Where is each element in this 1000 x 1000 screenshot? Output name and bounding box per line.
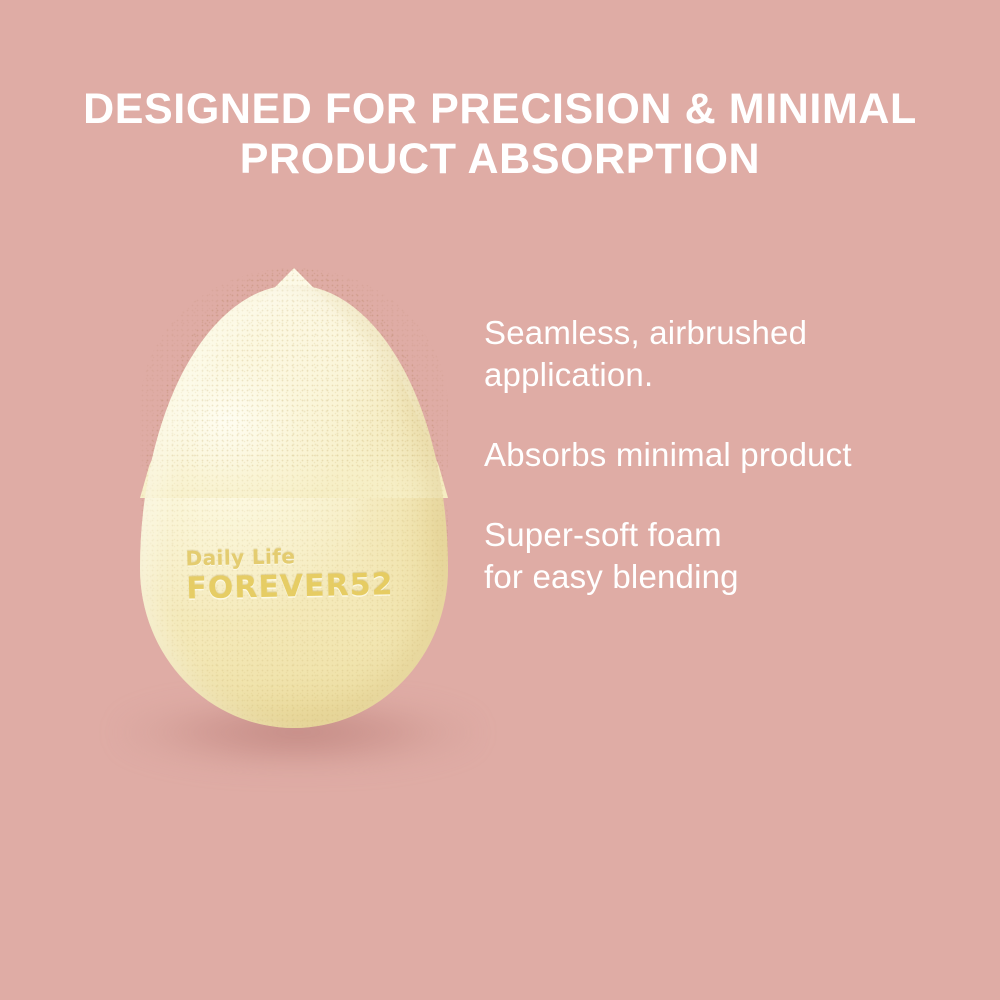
benefit-3-line-1: Super-soft foam	[484, 514, 984, 556]
product-feature-poster: DESIGNED FOR PRECISION & MINIMAL PRODUCT…	[0, 0, 1000, 1000]
brand-logo-emboss: Daily Life FOREVER52	[185, 541, 426, 606]
benefits-list: Seamless, airbrushed application. Absorb…	[484, 312, 984, 598]
headline-line-2: PRODUCT ABSORPTION	[0, 134, 1000, 184]
brand-name-top: Daily Life	[185, 541, 425, 570]
benefit-1-line-1: Seamless, airbrushed	[484, 312, 984, 354]
benefit-item-2: Absorbs minimal product	[484, 434, 984, 476]
page-title: DESIGNED FOR PRECISION & MINIMAL PRODUCT…	[0, 84, 1000, 184]
product-image-blender-sponge: Daily Life FOREVER52	[108, 268, 488, 768]
benefit-item-3: Super-soft foam for easy blending	[484, 514, 984, 598]
benefit-1-line-2: application.	[484, 354, 984, 396]
benefit-3-line-2: for easy blending	[484, 556, 984, 598]
brand-name-main: FOREVER52	[186, 566, 427, 606]
benefit-2-line-1: Absorbs minimal product	[484, 434, 984, 476]
headline-line-1: DESIGNED FOR PRECISION & MINIMAL	[0, 84, 1000, 134]
benefit-item-1: Seamless, airbrushed application.	[484, 312, 984, 396]
